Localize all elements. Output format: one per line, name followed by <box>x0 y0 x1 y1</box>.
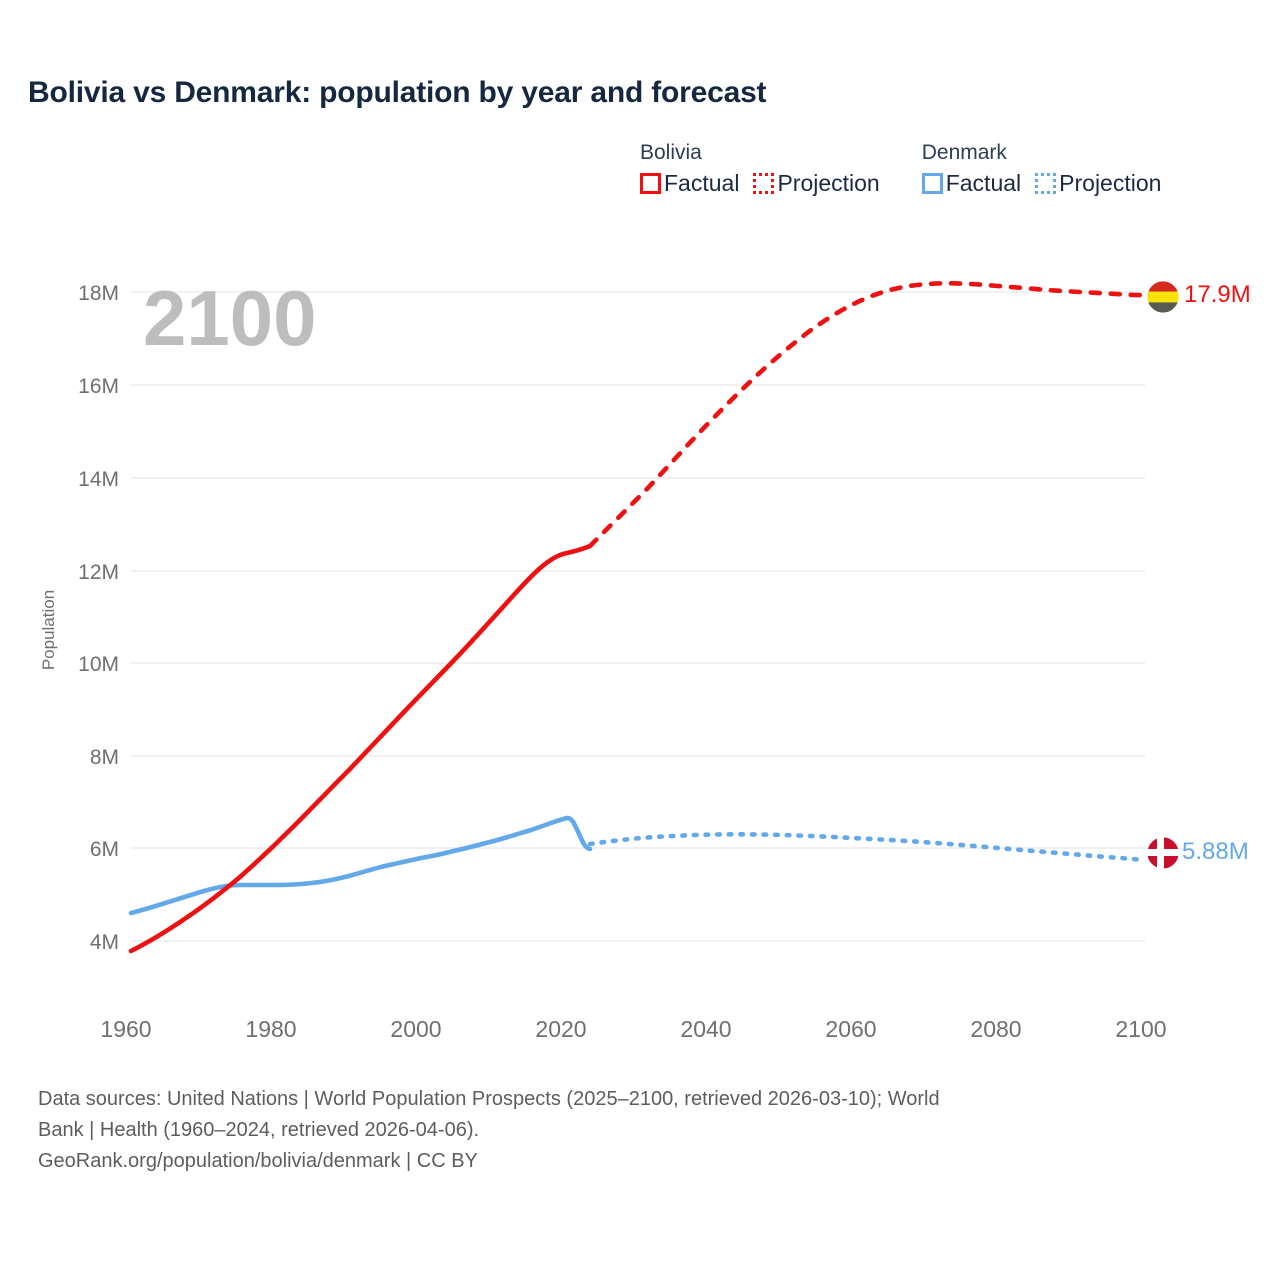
x-tick-2000: 2000 <box>390 1016 441 1042</box>
y-tick-labels: 18M 16M 14M 12M 10M 8M 6M 4M <box>78 282 119 954</box>
endpoint-label-denmark: 5.88M <box>1182 840 1249 864</box>
y-tick-4m: 4M <box>90 931 119 954</box>
y-tick-6m: 6M <box>90 838 119 861</box>
x-tick-2040: 2040 <box>680 1016 731 1042</box>
x-tick-2100: 2100 <box>1115 1016 1166 1042</box>
y-tick-10m: 10M <box>78 653 119 676</box>
plot-canvas-overlay <box>128 280 1148 970</box>
plot-area: Population 18M 16M 14M 12M 10M 8M 6M 4M … <box>0 0 1280 1065</box>
x-tick-2020: 2020 <box>535 1016 586 1042</box>
x-tick-labels: 1960 1980 2000 2020 2040 2060 2080 2100 <box>100 1016 1166 1042</box>
chart-svg: 18M 16M 14M 12M 10M 8M 6M 4M 1960 1980 2… <box>0 0 1280 1065</box>
footer-sources-line2: Bank | Health (1960–2024, retrieved 2026… <box>38 1115 1228 1146</box>
y-tick-18m: 18M <box>78 282 119 305</box>
y-tick-14m: 14M <box>78 468 119 491</box>
x-tick-1960: 1960 <box>100 1016 151 1042</box>
y-tick-8m: 8M <box>90 746 119 769</box>
footer-sources-line1: Data sources: United Nations | World Pop… <box>38 1084 1228 1115</box>
x-tick-1980: 1980 <box>245 1016 296 1042</box>
y-axis-title: Population <box>39 560 59 700</box>
endpoint-label-bolivia: 17.9M <box>1184 283 1251 307</box>
denmark-flag-icon <box>1147 837 1179 869</box>
footer-attribution: GeoRank.org/population/bolivia/denmark |… <box>38 1146 1248 1177</box>
watermark-year-svg: 2100 <box>143 274 317 362</box>
y-tick-16m: 16M <box>78 375 119 398</box>
x-tick-2080: 2080 <box>970 1016 1021 1042</box>
footer: Data sources: United Nations | World Pop… <box>38 1084 1248 1177</box>
chart-page: Bolivia vs Denmark: population by year a… <box>0 0 1280 1280</box>
x-tick-2060: 2060 <box>825 1016 876 1042</box>
bolivia-flag-icon <box>1147 281 1179 313</box>
y-tick-12m: 12M <box>78 561 119 584</box>
